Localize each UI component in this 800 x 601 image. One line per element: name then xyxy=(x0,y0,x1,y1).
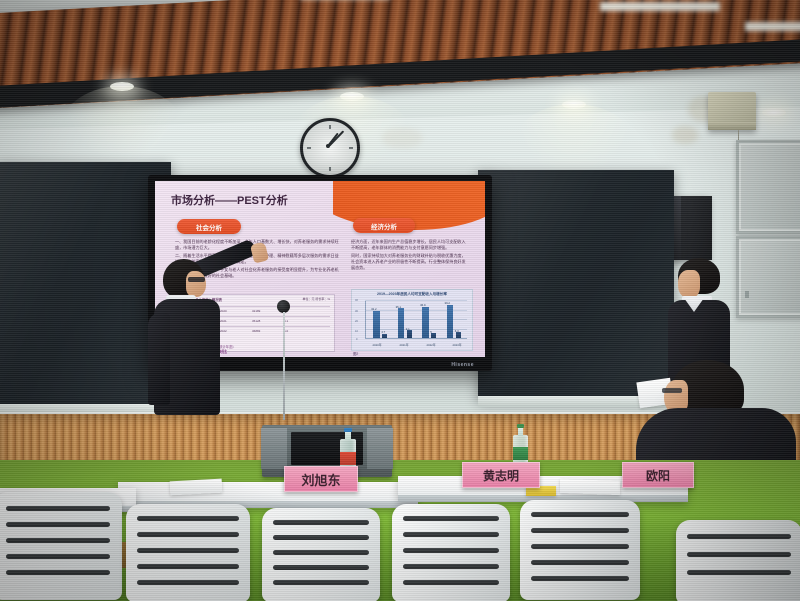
y-tick: 10 xyxy=(355,330,358,333)
chalkboard xyxy=(478,170,674,400)
table-unit-note: 单位：元 增长率：% xyxy=(302,297,330,301)
wall-clock xyxy=(300,118,360,178)
chart-caption: 图2 xyxy=(353,351,358,356)
x-tick: 2023年 xyxy=(446,343,468,347)
bar-income-2020 xyxy=(373,311,380,338)
nameplate-liu-xudong: 刘旭东 xyxy=(284,466,358,492)
wall-speaker xyxy=(672,196,712,260)
light-wash xyxy=(62,86,182,166)
classroom-photo: Hisense 市场分析——PEST分析 社会分析 经济分析 一、我国目前的老龄… xyxy=(0,0,800,601)
glasses-icon xyxy=(662,388,682,393)
bar-growth-2022 xyxy=(431,333,436,338)
person-presenter xyxy=(146,255,276,415)
bar-value: 39.2 xyxy=(445,301,450,305)
glasses-icon xyxy=(188,277,205,282)
document-sheet xyxy=(560,479,620,495)
wall-stain xyxy=(382,128,422,148)
y-tick: 30 xyxy=(355,310,358,313)
presenter-left-arm xyxy=(148,313,170,405)
bar-income-2021 xyxy=(398,308,405,338)
bar-income-2022 xyxy=(422,307,429,338)
x-tick: 2021年 xyxy=(393,343,415,347)
bar-value: 5 xyxy=(430,330,432,334)
y-tick: 0 xyxy=(356,338,357,341)
slide-right-body: 经济方面，近年来国内生产总值稳步增长，居民人均可支配收入不断提高，老年群体的消费… xyxy=(351,239,469,273)
paragraph: 经济方面，近年来国内生产总值稳步增长，居民人均可支配收入不断提高，老年群体的消费… xyxy=(351,239,469,251)
tv-brand-logo: Hisense xyxy=(451,362,474,368)
chair[interactable] xyxy=(520,500,640,600)
badge-economic-analysis: 经济分析 xyxy=(353,218,415,233)
bar-growth-2020 xyxy=(382,334,387,338)
bar-growth-2023 xyxy=(456,332,461,338)
ceiling-light-strip xyxy=(600,2,720,11)
y-tick: 20 xyxy=(355,320,358,323)
bar-value: 32.2 xyxy=(371,307,376,311)
chair[interactable] xyxy=(0,492,122,600)
nameplate-second: 黄志明 xyxy=(462,462,540,488)
x-tick: 2020年 xyxy=(366,343,388,347)
bar-income-2023 xyxy=(447,305,454,338)
y-tick: 40 xyxy=(355,299,358,302)
badge-social-analysis: 社会分析 xyxy=(177,219,241,234)
bar-value: 9.1 xyxy=(406,327,410,331)
bar-value: 6.3 xyxy=(455,329,459,333)
bar-value: 36.9 xyxy=(420,303,425,307)
chair[interactable] xyxy=(676,520,800,601)
chart-title: 2019—2023年居民人均可支配收入与增长率 xyxy=(352,292,472,297)
slide-bar-chart: 2019—2023年居民人均可支配收入与增长率 32.2 4.7 xyxy=(351,289,473,351)
paragraph: 同时，国家持续加大对养老服务业的财政补贴与税收优惠力度，社会资本进入养老产业的积… xyxy=(351,253,469,271)
student-face xyxy=(678,270,700,298)
slide-title: 市场分析——PEST分析 xyxy=(171,192,288,208)
ceiling-light-strip xyxy=(745,22,800,31)
x-tick: 2022年 xyxy=(420,343,442,347)
downlight-icon xyxy=(762,108,786,117)
presenter-face xyxy=(186,271,206,297)
bar-growth-2021 xyxy=(407,330,412,338)
utility-panel-upper[interactable] xyxy=(736,140,800,234)
bar-value: 35.1 xyxy=(396,305,401,309)
bar-value: 4.7 xyxy=(381,330,385,334)
microphone xyxy=(277,300,290,420)
wall-stain xyxy=(672,126,698,144)
ceiling-projector-unit xyxy=(708,92,756,130)
chart-plot-area: 32.2 4.7 35.1 9.1 36.9 5 xyxy=(365,301,467,339)
chair[interactable] xyxy=(262,508,380,601)
chair[interactable] xyxy=(392,504,510,601)
chair[interactable] xyxy=(126,504,250,601)
document-sheet xyxy=(170,479,223,496)
nameplate-third: 欧阳 xyxy=(622,462,694,488)
